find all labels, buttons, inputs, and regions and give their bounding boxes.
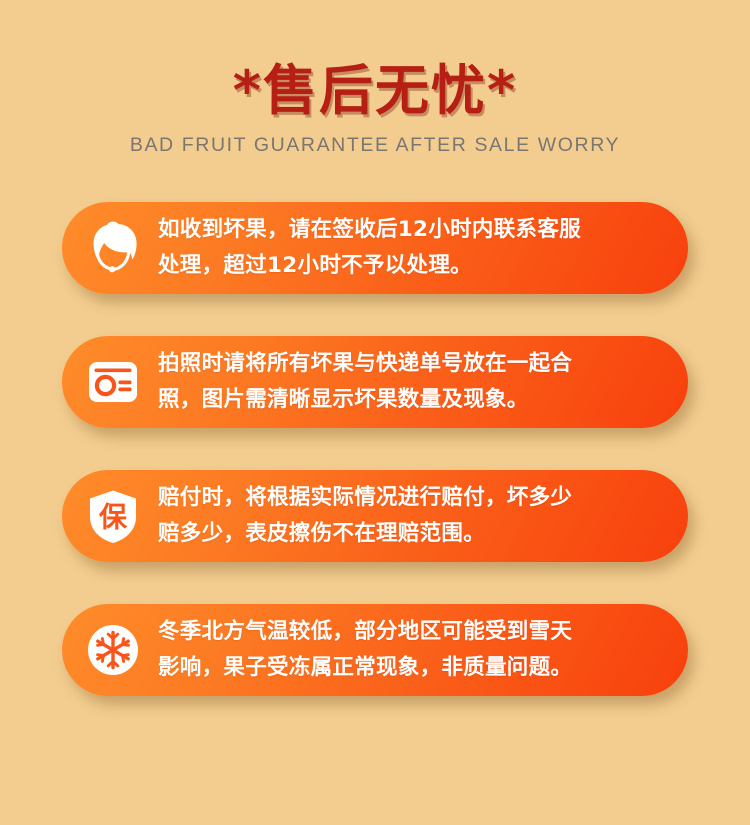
page-header: *售后无忧* BAD FRUIT GUARANTEE AFTER SALE WO… <box>0 0 750 158</box>
page-title: *售后无忧* <box>0 62 750 120</box>
guarantee-card: 如收到坏果，请在签收后12小时内联系客服 处理，超过12小时不予以处理。 <box>62 202 688 294</box>
guarantee-card-text: 冬季北方气温较低，部分地区可能受到雪天 影响，果子受冻属正常现象，非质量问题。 <box>158 614 572 686</box>
id-card-photo-icon <box>82 351 144 413</box>
guarantee-card: 保 赔付时，将根据实际情况进行赔付，坏多少 赔多少，表皮擦伤不在理赔范围。 <box>62 470 688 562</box>
guarantee-card-text: 如收到坏果，请在签收后12小时内联系客服 处理，超过12小时不予以处理。 <box>158 212 581 284</box>
guarantee-card-text: 赔付时，将根据实际情况进行赔付，坏多少 赔多少，表皮擦伤不在理赔范围。 <box>158 480 572 552</box>
guarantee-card-text: 拍照时请将所有坏果与快递单号放在一起合 照，图片需清晰显示坏果数量及现象。 <box>158 346 572 418</box>
customer-service-agent-icon <box>82 217 144 279</box>
after-sale-guarantee-page: *售后无忧* BAD FRUIT GUARANTEE AFTER SALE WO… <box>0 0 750 825</box>
shield-glyph: 保 <box>99 500 128 533</box>
guarantee-card: 冬季北方气温较低，部分地区可能受到雪天 影响，果子受冻属正常现象，非质量问题。 <box>62 604 688 696</box>
guarantee-card: 拍照时请将所有坏果与快递单号放在一起合 照，图片需清晰显示坏果数量及现象。 <box>62 336 688 428</box>
page-subtitle: BAD FRUIT GUARANTEE AFTER SALE WORRY <box>0 134 750 157</box>
snowflake-icon <box>82 619 144 681</box>
guarantee-card-list: 如收到坏果，请在签收后12小时内联系客服 处理，超过12小时不予以处理。 拍照时… <box>0 202 750 696</box>
shield-guarantee-icon: 保 <box>82 485 144 547</box>
